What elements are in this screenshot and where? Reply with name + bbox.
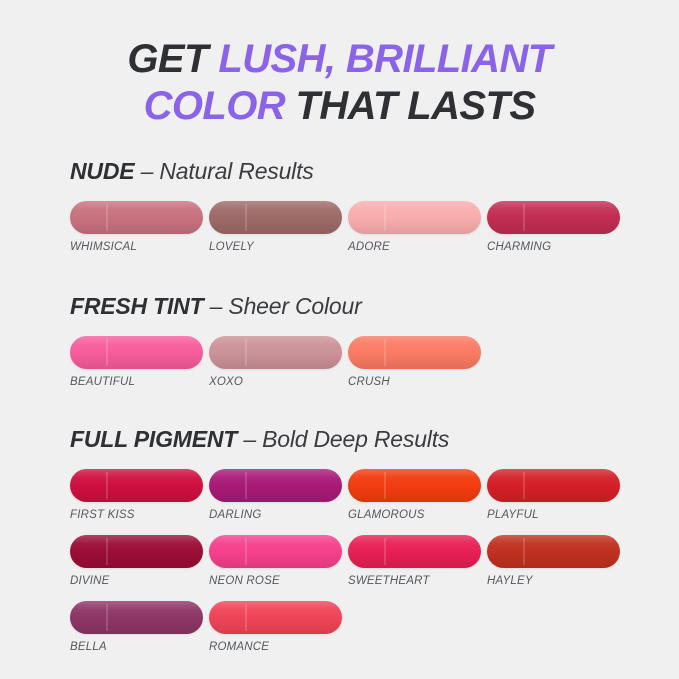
page-title: GET LUSH, BRILLIANT COLOR THAT LASTS (0, 0, 679, 130)
swatch-playful[interactable]: PLAYFUL (487, 469, 623, 522)
swatch-glamorous[interactable]: GLAMOROUS (348, 469, 484, 522)
swatch-label-sweetheart: SWEETHEART (348, 575, 484, 588)
section-title-full-pigment: FULL PIGMENT – Bold Deep Results (70, 426, 661, 453)
swatch-darling[interactable]: DARLING (209, 469, 345, 522)
section-subtitle-fresh-tint: – Sheer Colour (203, 293, 361, 319)
swatch-row-full-pigment: FIRST KISS DARLING GLAMOROUS PLAYFUL DIV (70, 469, 661, 667)
swatch-label-romance: ROMANCE (209, 641, 345, 654)
swatch-label-first-kiss: FIRST KISS (70, 509, 206, 522)
swatch-label-crush: CRUSH (348, 376, 484, 389)
headline-line-2: COLOR THAT LASTS (0, 83, 679, 130)
swatch-color-playful[interactable] (487, 469, 620, 502)
swatch-color-charming[interactable] (487, 201, 620, 234)
swatch-color-divine[interactable] (70, 535, 203, 568)
section-name-full-pigment: FULL PIGMENT (70, 426, 237, 452)
swatch-label-neon-rose: NEON ROSE (209, 575, 345, 588)
swatch-divine[interactable]: DIVINE (70, 535, 206, 588)
swatch-label-beautiful: BEAUTIFUL (70, 376, 206, 389)
swatch-charming[interactable]: CHARMING (487, 201, 623, 254)
swatch-color-bella[interactable] (70, 601, 203, 634)
headline-that-lasts: THAT LASTS (285, 84, 535, 128)
swatch-bella[interactable]: BELLA (70, 601, 206, 654)
shade-sections: NUDE – Natural Results WHIMSICAL LOVELY … (0, 130, 679, 667)
headline-color: COLOR (144, 84, 285, 128)
section-name-fresh-tint: FRESH TINT (70, 293, 203, 319)
swatch-label-glamorous: GLAMOROUS (348, 509, 484, 522)
swatch-color-sweetheart[interactable] (348, 535, 481, 568)
section-name-nude: NUDE (70, 158, 134, 184)
swatch-neon-rose[interactable]: NEON ROSE (209, 535, 345, 588)
swatch-label-bella: BELLA (70, 641, 206, 654)
headline-lush-brilliant: LUSH, BRILLIANT (218, 37, 551, 81)
swatch-label-xoxo: XOXO (209, 376, 345, 389)
swatch-label-hayley: HAYLEY (487, 575, 623, 588)
swatch-color-whimsical[interactable] (70, 201, 203, 234)
swatch-sweetheart[interactable]: SWEETHEART (348, 535, 484, 588)
swatch-color-lovely[interactable] (209, 201, 342, 234)
swatch-color-beautiful[interactable] (70, 336, 203, 369)
swatch-color-romance[interactable] (209, 601, 342, 634)
section-full-pigment: FULL PIGMENT – Bold Deep Results FIRST K… (0, 426, 679, 667)
section-subtitle-nude: – Natural Results (134, 158, 313, 184)
swatch-color-glamorous[interactable] (348, 469, 481, 502)
swatch-row-nude: WHIMSICAL LOVELY ADORE CHARMING (70, 201, 661, 267)
swatch-color-xoxo[interactable] (209, 336, 342, 369)
section-title-nude: NUDE – Natural Results (70, 158, 661, 185)
swatch-xoxo[interactable]: XOXO (209, 336, 345, 389)
swatch-label-charming: CHARMING (487, 241, 623, 254)
swatch-color-crush[interactable] (348, 336, 481, 369)
swatch-hayley[interactable]: HAYLEY (487, 535, 623, 588)
swatch-romance[interactable]: ROMANCE (209, 601, 345, 654)
swatch-label-lovely: LOVELY (209, 241, 345, 254)
swatch-label-divine: DIVINE (70, 575, 206, 588)
section-title-fresh-tint: FRESH TINT – Sheer Colour (70, 293, 661, 320)
headline-get: GET (127, 37, 218, 81)
swatch-adore[interactable]: ADORE (348, 201, 484, 254)
swatch-whimsical[interactable]: WHIMSICAL (70, 201, 206, 254)
swatch-row-fresh-tint: BEAUTIFUL XOXO CRUSH (70, 336, 661, 402)
swatch-label-playful: PLAYFUL (487, 509, 623, 522)
swatch-color-adore[interactable] (348, 201, 481, 234)
swatch-color-first-kiss[interactable] (70, 469, 203, 502)
section-nude: NUDE – Natural Results WHIMSICAL LOVELY … (0, 158, 679, 267)
headline-line-1: GET LUSH, BRILLIANT (0, 36, 679, 83)
section-subtitle-full-pigment: – Bold Deep Results (237, 426, 449, 452)
swatch-color-neon-rose[interactable] (209, 535, 342, 568)
section-fresh-tint: FRESH TINT – Sheer Colour BEAUTIFUL XOXO… (0, 293, 679, 402)
swatch-crush[interactable]: CRUSH (348, 336, 484, 389)
swatch-color-hayley[interactable] (487, 535, 620, 568)
swatch-label-whimsical: WHIMSICAL (70, 241, 206, 254)
swatch-label-darling: DARLING (209, 509, 345, 522)
swatch-color-darling[interactable] (209, 469, 342, 502)
swatch-lovely[interactable]: LOVELY (209, 201, 345, 254)
swatch-label-adore: ADORE (348, 241, 484, 254)
swatch-first-kiss[interactable]: FIRST KISS (70, 469, 206, 522)
shade-chart-page: GET LUSH, BRILLIANT COLOR THAT LASTS NUD… (0, 0, 679, 679)
swatch-beautiful[interactable]: BEAUTIFUL (70, 336, 206, 389)
